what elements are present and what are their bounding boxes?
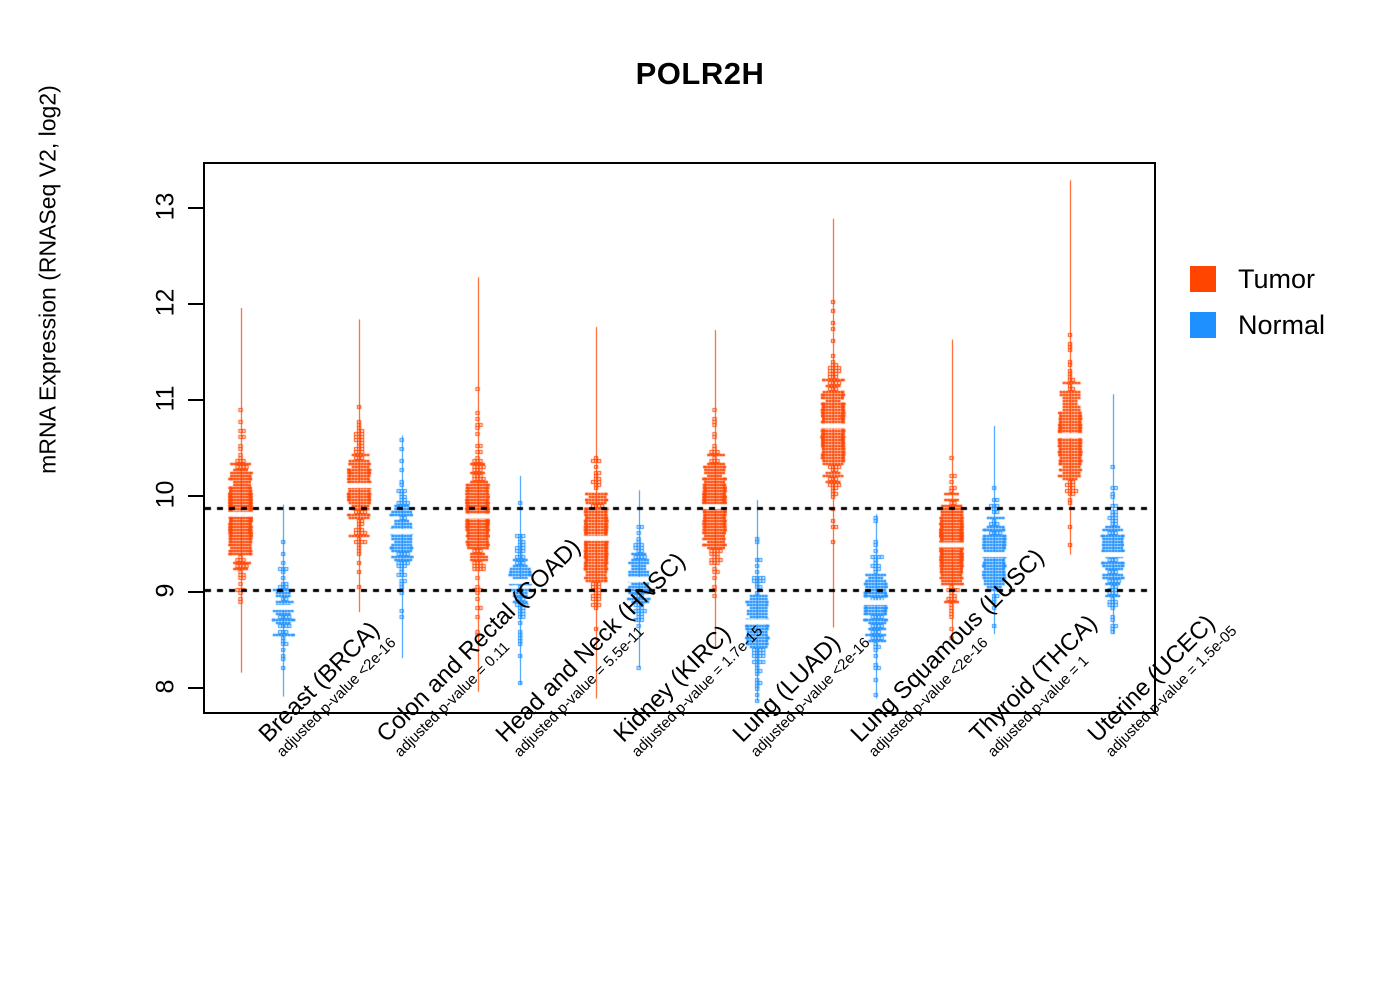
y-tick-label: 13 bbox=[152, 176, 181, 236]
legend-label-tumor: Tumor bbox=[1238, 264, 1315, 295]
legend-swatch-tumor bbox=[1190, 266, 1216, 292]
legend: TumorNormal bbox=[1190, 256, 1325, 348]
y-tick-mark bbox=[188, 303, 203, 306]
plot-area bbox=[203, 162, 1156, 714]
y-axis-title: mRNA Expression (RNASeq V2, log2) bbox=[35, 0, 62, 660]
y-tick-mark bbox=[188, 399, 203, 402]
y-tick-label: 9 bbox=[152, 560, 181, 620]
legend-label-normal: Normal bbox=[1238, 310, 1325, 341]
y-tick-mark bbox=[188, 591, 203, 594]
legend-swatch-normal bbox=[1190, 312, 1216, 338]
y-tick-mark bbox=[188, 495, 203, 498]
beeswarm-canvas bbox=[205, 164, 1153, 711]
y-tick-label: 10 bbox=[152, 464, 181, 524]
chart-page: POLR2H mRNA Expression (RNASeq V2, log2)… bbox=[0, 0, 1400, 1000]
legend-item-normal: Normal bbox=[1190, 302, 1325, 348]
y-tick-label: 8 bbox=[152, 656, 181, 716]
y-tick-mark bbox=[188, 207, 203, 210]
y-tick-label: 11 bbox=[152, 368, 181, 428]
y-tick-label: 12 bbox=[152, 272, 181, 332]
y-tick-mark bbox=[188, 687, 203, 690]
page-title: POLR2H bbox=[0, 56, 1400, 92]
legend-item-tumor: Tumor bbox=[1190, 256, 1325, 302]
